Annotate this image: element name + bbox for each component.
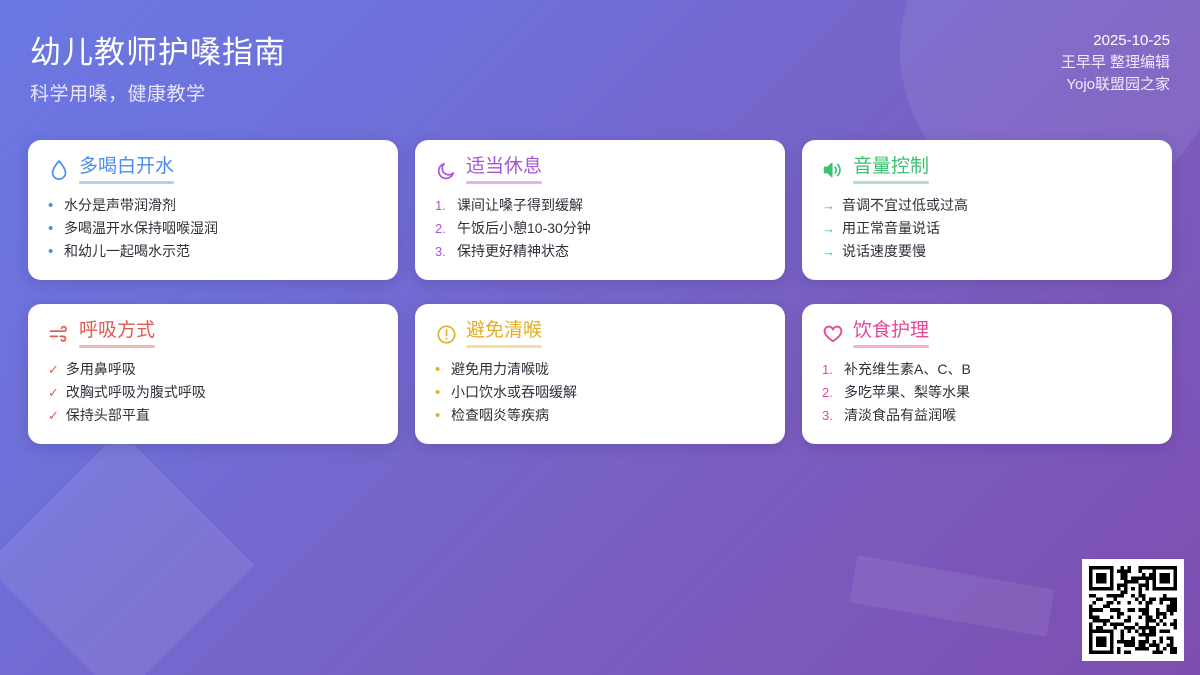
list-marker: • [435,381,444,404]
list-item: ✓保持头部平直 [48,404,378,427]
card-title-wrap: 多喝白开水 [79,156,174,184]
card-title: 适当休息 [466,156,542,177]
card-header: 音量控制 [822,156,1152,184]
list-item: 3.保持更好精神状态 [435,240,765,263]
card-title-wrap: 避免清喉 [466,320,542,348]
list-item-text: 检查咽炎等疾病 [451,404,549,427]
list-item: 2.午饭后小憩10-30分钟 [435,217,765,240]
list-marker: 3. [822,404,837,427]
tip-card-throat: 避免清喉•避免用力清喉咙•小口饮水或吞咽缓解•检查咽炎等疾病 [415,304,785,444]
list-marker: • [435,358,444,381]
list-marker: • [48,194,57,217]
qr-code-icon [1089,566,1177,654]
list-item: ✓改胸式呼吸为腹式呼吸 [48,381,378,404]
title-underline [79,345,155,348]
list-item: 3.清淡食品有益润喉 [822,404,1152,427]
list-marker: • [48,240,57,263]
list-item: •检查咽炎等疾病 [435,404,765,427]
list-item-text: 音调不宜过低或过高 [842,194,968,217]
list-marker: ✓ [48,381,59,404]
qr-code[interactable] [1082,559,1184,661]
tip-card-breath: 呼吸方式✓多用鼻呼吸✓改胸式呼吸为腹式呼吸✓保持头部平直 [28,304,398,444]
list-item: •避免用力清喉咙 [435,358,765,381]
list-marker: → [822,217,835,240]
title-underline [853,345,929,348]
list-marker: 1. [822,358,837,381]
list-item-text: 多喝温开水保持咽喉湿润 [64,217,218,240]
title-underline [466,181,542,184]
list-item: →用正常音量说话 [822,217,1152,240]
tip-card-rest: 适当休息1.课间让嗓子得到缓解2.午饭后小憩10-30分钟3.保持更好精神状态 [415,140,785,280]
meta-author: 王早早 整理编辑 [1061,52,1170,74]
list-item: 1.课间让嗓子得到缓解 [435,194,765,217]
droplet-icon [48,159,70,181]
list-item-text: 用正常音量说话 [842,217,940,240]
card-title: 避免清喉 [466,320,542,341]
card-header: 适当休息 [435,156,765,184]
tip-card-diet: 饮食护理1.补充维生素A、C、B2.多吃苹果、梨等水果3.清淡食品有益润喉 [802,304,1172,444]
card-title-wrap: 音量控制 [853,156,929,184]
list-item-text: 清淡食品有益润喉 [844,404,956,427]
list-item-text: 午饭后小憩10-30分钟 [457,217,591,240]
tips-card-grid: 多喝白开水•水分是声带润滑剂•多喝温开水保持咽喉湿润•和幼儿一起喝水示范适当休息… [28,140,1172,444]
list-item: •小口饮水或吞咽缓解 [435,381,765,404]
card-title: 音量控制 [853,156,929,177]
page-title: 幼儿教师护嗓指南 [30,27,286,72]
page-header: 幼儿教师护嗓指南 科学用嗓，健康教学 2025-10-25 王早早 整理编辑 Y… [0,0,1200,128]
card-title-wrap: 饮食护理 [853,320,929,348]
list-marker: • [435,404,444,427]
meta-org: Yojo联盟园之家 [1061,74,1170,96]
card-item-list: •水分是声带润滑剂•多喝温开水保持咽喉湿润•和幼儿一起喝水示范 [48,194,378,263]
warning-circle-icon [435,323,457,345]
heart-icon [822,323,844,345]
list-marker: → [822,194,835,217]
card-title-wrap: 适当休息 [466,156,542,184]
list-marker: 2. [822,381,837,404]
list-marker: • [48,217,57,240]
card-item-list: •避免用力清喉咙•小口饮水或吞咽缓解•检查咽炎等疾病 [435,358,765,427]
card-item-list: →音调不宜过低或过高→用正常音量说话→说话速度要慢 [822,194,1152,263]
list-item-text: 小口饮水或吞咽缓解 [451,381,577,404]
list-item-text: 和幼儿一起喝水示范 [64,240,190,263]
list-marker: ✓ [48,358,59,381]
list-item: •多喝温开水保持咽喉湿润 [48,217,378,240]
list-item: 2.多吃苹果、梨等水果 [822,381,1152,404]
title-underline [79,181,174,184]
list-marker: 2. [435,217,450,240]
card-header: 避免清喉 [435,320,765,348]
card-header: 饮食护理 [822,320,1152,348]
list-item: •水分是声带润滑剂 [48,194,378,217]
header-meta: 2025-10-25 王早早 整理编辑 Yojo联盟园之家 [1061,30,1170,96]
list-marker: 1. [435,194,450,217]
speaker-icon [822,159,844,181]
wind-icon [48,323,70,345]
list-item: →说话速度要慢 [822,240,1152,263]
list-item-text: 课间让嗓子得到缓解 [457,194,583,217]
list-item-text: 改胸式呼吸为腹式呼吸 [66,381,206,404]
card-title: 多喝白开水 [79,156,174,177]
list-item: •和幼儿一起喝水示范 [48,240,378,263]
card-header: 呼吸方式 [48,320,378,348]
card-item-list: 1.课间让嗓子得到缓解2.午饭后小憩10-30分钟3.保持更好精神状态 [435,194,765,263]
list-marker: → [822,240,835,263]
list-marker: 3. [435,240,450,263]
list-item-text: 说话速度要慢 [842,240,926,263]
list-item: ✓多用鼻呼吸 [48,358,378,381]
card-title: 呼吸方式 [79,320,155,341]
decorative-bar [849,555,1054,637]
moon-icon [435,159,457,181]
list-item-text: 保持头部平直 [66,404,150,427]
list-marker: ✓ [48,404,59,427]
list-item-text: 水分是声带润滑剂 [64,194,176,217]
card-title-wrap: 呼吸方式 [79,320,155,348]
title-underline [853,181,929,184]
title-underline [466,345,542,348]
page-subtitle: 科学用嗓，健康教学 [30,79,206,106]
list-item-text: 补充维生素A、C、B [844,358,971,381]
card-item-list: 1.补充维生素A、C、B2.多吃苹果、梨等水果3.清淡食品有益润喉 [822,358,1152,427]
list-item: 1.补充维生素A、C、B [822,358,1152,381]
card-item-list: ✓多用鼻呼吸✓改胸式呼吸为腹式呼吸✓保持头部平直 [48,358,378,427]
list-item: →音调不宜过低或过高 [822,194,1152,217]
list-item-text: 避免用力清喉咙 [451,358,549,381]
decorative-diamond [0,431,254,675]
tip-card-volume: 音量控制→音调不宜过低或过高→用正常音量说话→说话速度要慢 [802,140,1172,280]
tip-card-water: 多喝白开水•水分是声带润滑剂•多喝温开水保持咽喉湿润•和幼儿一起喝水示范 [28,140,398,280]
card-header: 多喝白开水 [48,156,378,184]
list-item-text: 多吃苹果、梨等水果 [844,381,970,404]
list-item-text: 保持更好精神状态 [457,240,569,263]
list-item-text: 多用鼻呼吸 [66,358,136,381]
card-title: 饮食护理 [853,320,929,341]
meta-date: 2025-10-25 [1061,30,1170,52]
